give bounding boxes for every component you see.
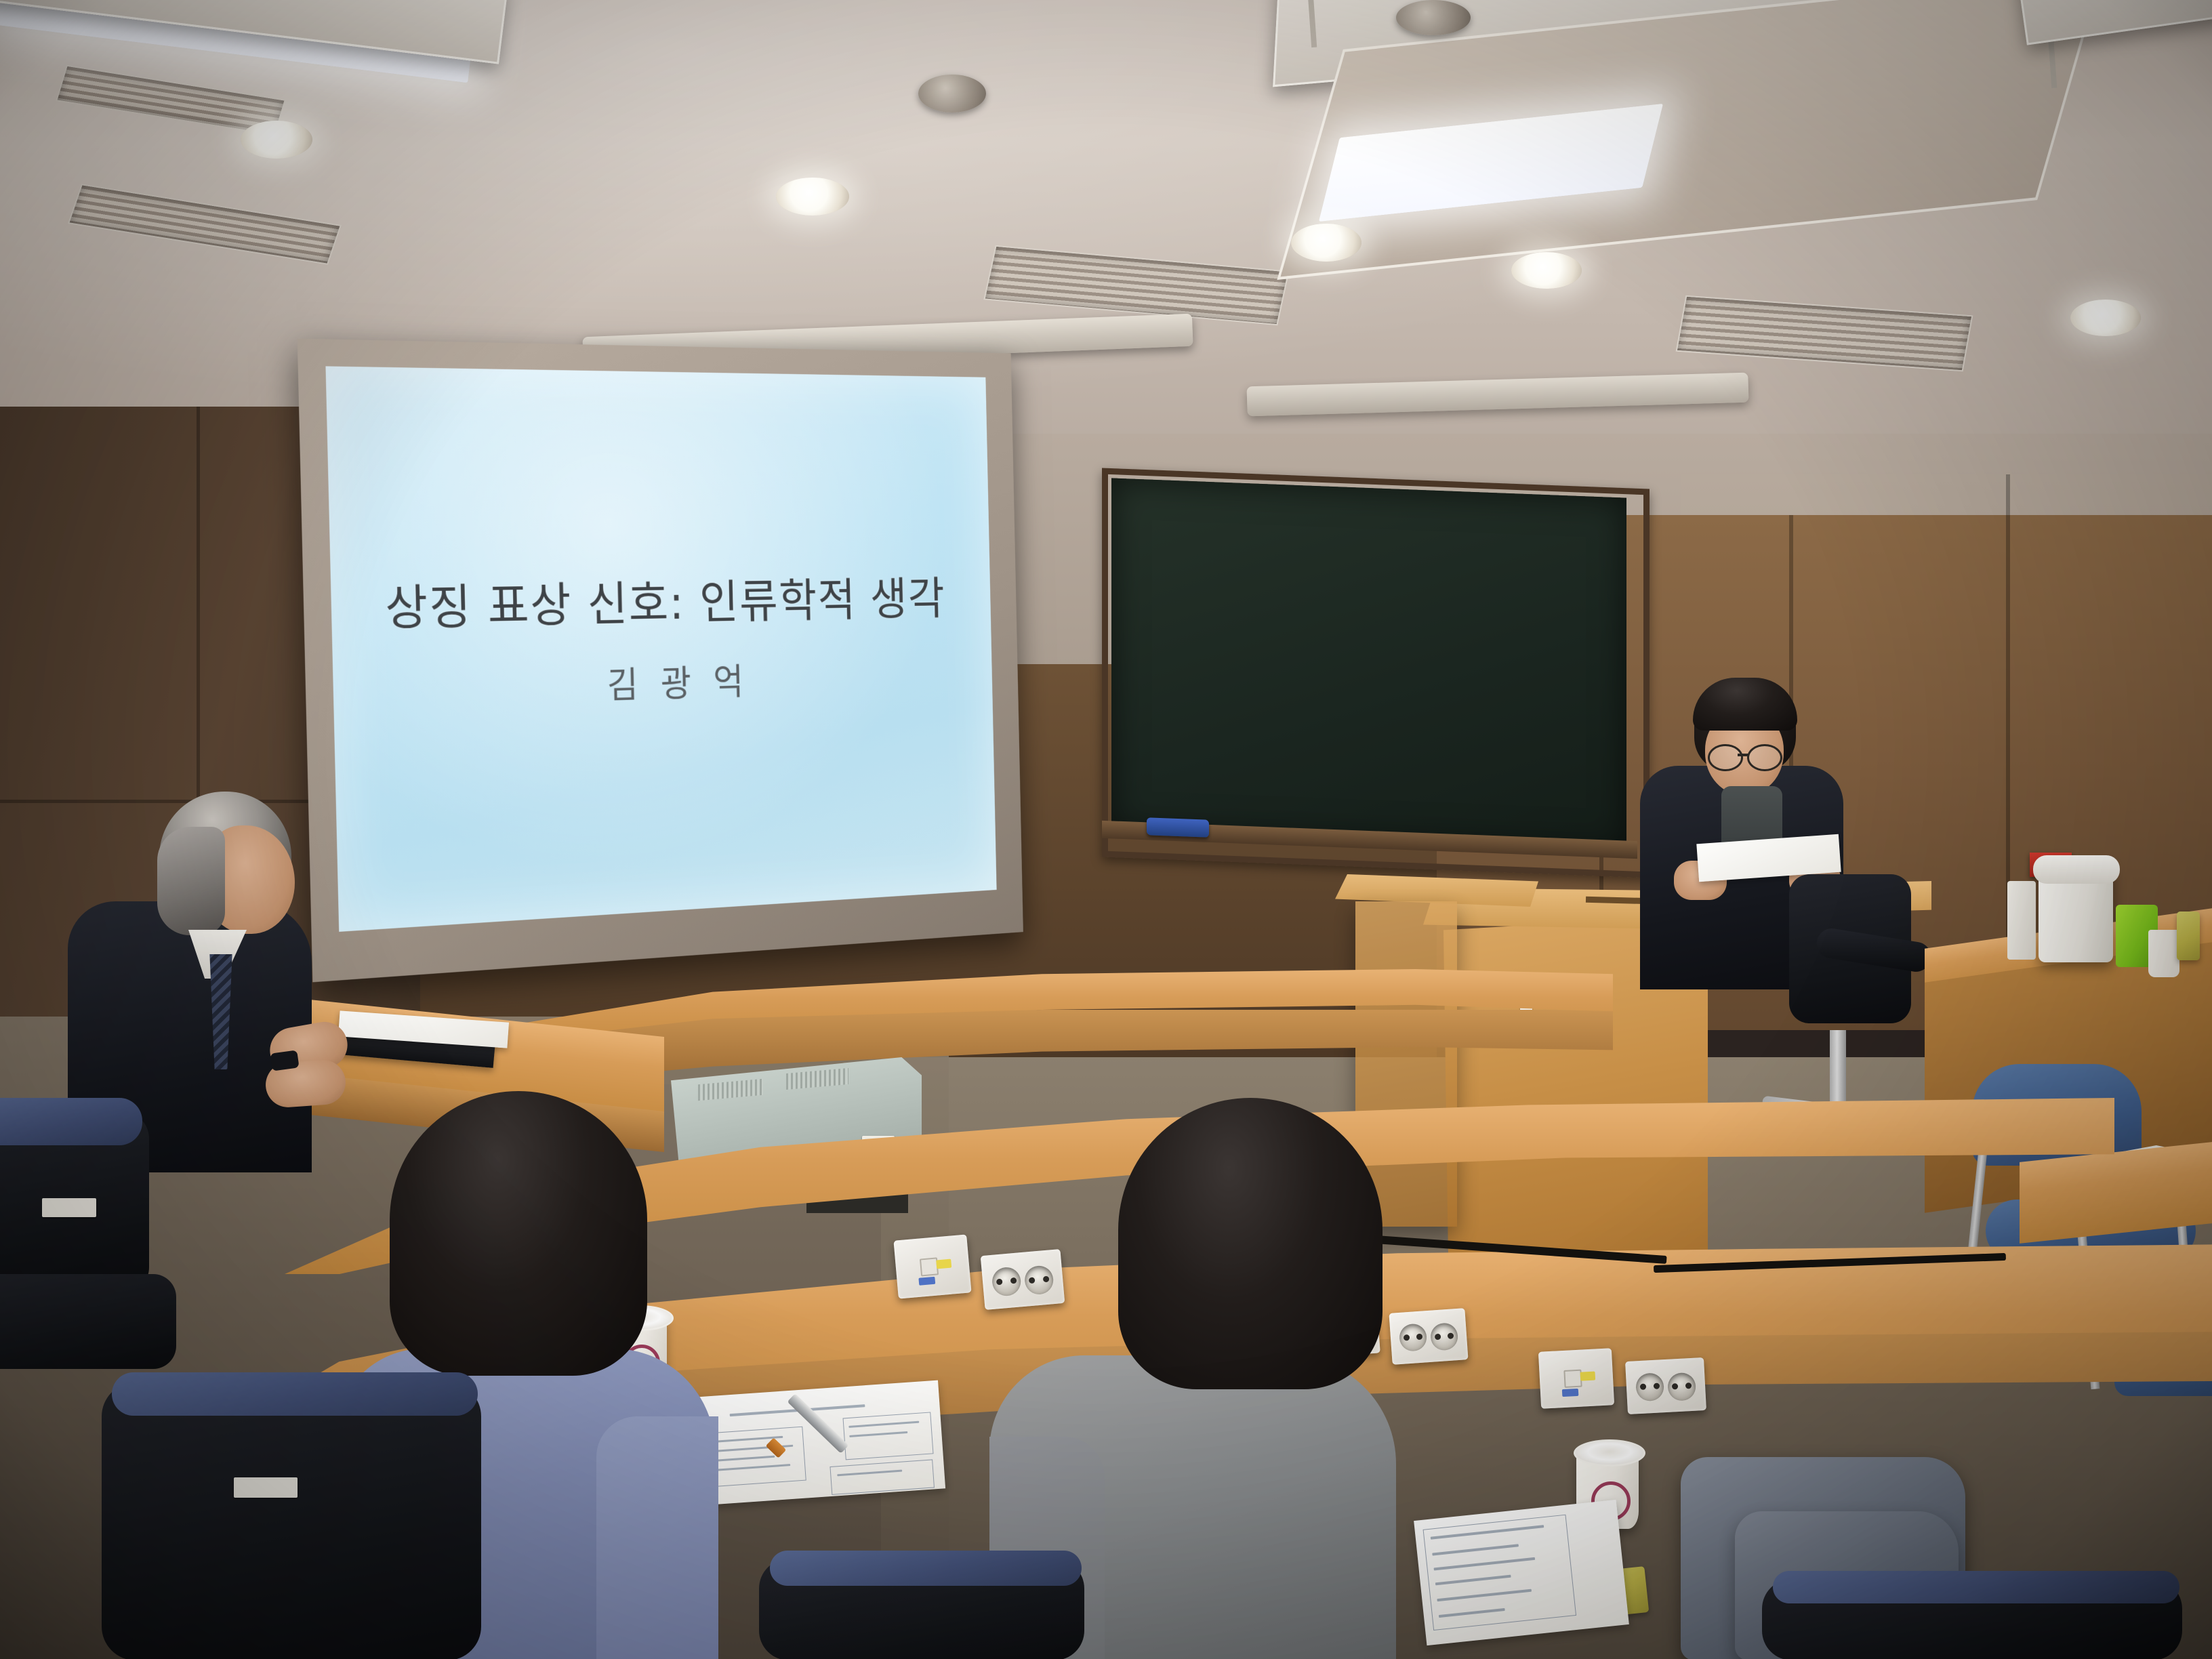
- senior-man-hair-side: [157, 827, 225, 935]
- power-outlet[interactable]: [981, 1249, 1065, 1310]
- chair-asset-tag: [42, 1198, 96, 1217]
- counter-cup: [2148, 930, 2179, 977]
- socket[interactable]: [1399, 1323, 1428, 1352]
- power-outlet[interactable]: [1389, 1308, 1468, 1365]
- socket[interactable]: [1635, 1372, 1664, 1401]
- chalkboard-frame: [1102, 468, 1650, 878]
- counter-packet: [2177, 912, 2200, 960]
- downlight: [241, 121, 312, 159]
- attendee-lilac-hair: [390, 1091, 647, 1376]
- power-outlet[interactable]: [1625, 1357, 1706, 1414]
- chair-foreground-mid-trim: [770, 1551, 1082, 1586]
- attendee-gray-hair: [1118, 1098, 1382, 1389]
- chair-foreground-right-trim: [1773, 1571, 2179, 1603]
- attendee-lilac-shoulder-fold: [596, 1416, 718, 1659]
- chair-foreground-left[interactable]: [102, 1382, 481, 1659]
- projected-slide: 상징 표상 신호: 인류학적 생각 김 광 억: [325, 366, 996, 932]
- data-jack-plate[interactable]: [1538, 1348, 1614, 1409]
- chair-asset-tag: [234, 1477, 298, 1498]
- jack-label-yellow: [1580, 1372, 1596, 1381]
- kettle-lid: [2033, 855, 2120, 884]
- kettle-cup: [2007, 881, 2036, 960]
- chair-foreground-left-trim: [112, 1372, 478, 1416]
- downlight: [2070, 300, 2141, 336]
- board-eraser[interactable]: [1147, 817, 1209, 838]
- cup-rim: [1574, 1439, 1645, 1467]
- smoke-detector-icon: [918, 75, 986, 112]
- socket[interactable]: [991, 1266, 1022, 1297]
- eyeglasses: [1747, 744, 1782, 771]
- jack-label-blue: [918, 1277, 935, 1286]
- smoke-detector-icon: [1396, 0, 1471, 35]
- wristwatch: [270, 1050, 299, 1071]
- data-jack-plate[interactable]: [893, 1234, 971, 1298]
- jack-label-blue: [1562, 1389, 1579, 1397]
- eyeglasses-bridge: [1738, 754, 1748, 756]
- socket[interactable]: [1023, 1265, 1054, 1296]
- network-jack[interactable]: [1563, 1370, 1582, 1388]
- chair-left-headrest: [0, 1098, 142, 1145]
- chair-left-seat[interactable]: [0, 1274, 176, 1369]
- downlight: [1291, 224, 1361, 262]
- projection-screen: 상징 표상 신호: 인류학적 생각 김 광 억: [298, 339, 1023, 983]
- panel-seam: [2006, 474, 2010, 949]
- lecture-hall-photo: 상징 표상 신호: 인류학적 생각 김 광 억: [0, 0, 2212, 1659]
- eyeglasses: [1708, 744, 1743, 771]
- jack-label-yellow: [936, 1259, 951, 1269]
- downlight: [776, 178, 849, 216]
- downlight: [1511, 252, 1582, 289]
- socket[interactable]: [1667, 1372, 1696, 1401]
- handout-right: [1414, 1500, 1629, 1645]
- socket[interactable]: [1430, 1322, 1459, 1351]
